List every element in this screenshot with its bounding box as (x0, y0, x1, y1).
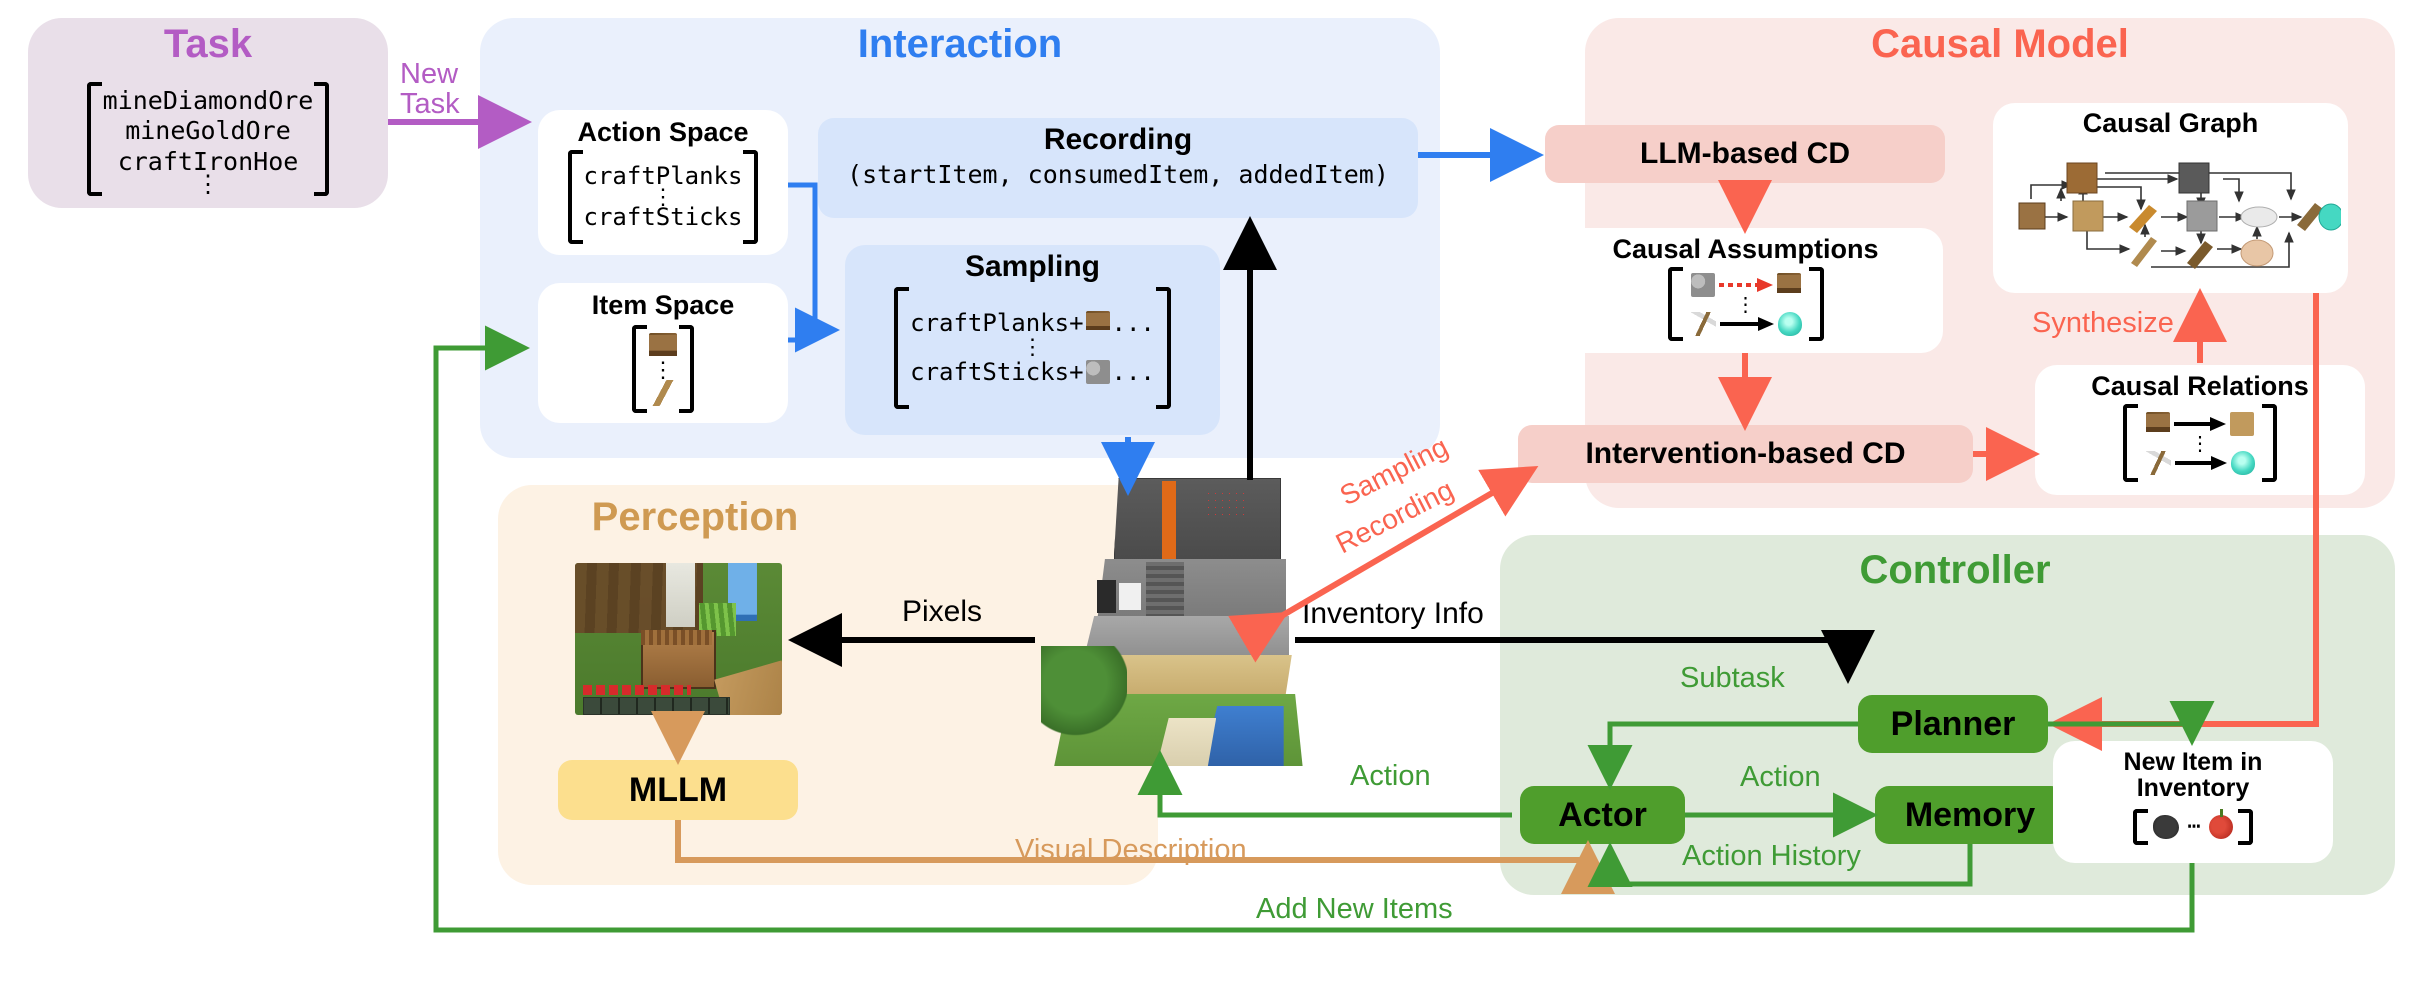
action-space-last: craftSticks (584, 204, 743, 232)
graph-node-crafting-table (2067, 163, 2097, 193)
graph-node-log (2019, 203, 2045, 229)
assumptions-ellipsis: ⋮ (1736, 298, 1756, 310)
cobblestone-item-icon (1691, 273, 1715, 297)
bracket-right (2265, 402, 2281, 484)
planner-label: Planner (1891, 705, 2016, 744)
action-space-title: Action Space (577, 118, 748, 146)
task-matrix: mineDiamondOre mineGoldOre craftIronHoe … (48, 80, 368, 200)
graph-node-cobblestone (2187, 201, 2217, 231)
pickaxe-item-icon (1690, 312, 1716, 336)
bracket-left (1664, 265, 1680, 343)
new-task-label-line2: Task (400, 88, 460, 121)
graph-node-stick (2131, 237, 2157, 267)
memory-box[interactable]: Memory (1875, 786, 2065, 844)
recording-tuple: (startItem, consumedItem, addedItem) (818, 160, 1418, 189)
llm-based-cd-box[interactable]: LLM-based CD (1545, 125, 1945, 183)
diamond-item-icon (2231, 451, 2255, 475)
plank-item-icon (1086, 311, 1110, 335)
causal-relations-card: Causal Relations ⋮ (2035, 365, 2365, 495)
bracket-right (1159, 285, 1175, 411)
synthesize-label: Synthesize (2032, 307, 2174, 340)
action-label-2: Action (1740, 761, 1821, 794)
causal-assumptions-card: Causal Assumptions ⋮ (1548, 228, 1943, 353)
sampling-last-tail: ... (1112, 358, 1155, 386)
memory-label: Memory (1905, 796, 2035, 835)
new-item-in-inventory-card: New Item in Inventory ⋯ (2053, 741, 2333, 863)
bracket-left (890, 285, 906, 411)
action-space-card: Action Space craftPlanks ⋮ craftSticks (538, 110, 788, 255)
pickaxe-item-icon (2145, 451, 2171, 475)
inventory-info-label: Inventory Info (1302, 597, 1484, 631)
action-space-ellipsis: ⋮ (652, 191, 674, 205)
causal-relations-title: Causal Relations (2091, 372, 2309, 400)
action-label: Action (1350, 760, 1431, 793)
bracket-left (2119, 402, 2135, 484)
bracket-left (564, 148, 580, 246)
graph-node-iron-ingot (2241, 207, 2277, 227)
sampling-title: Sampling (965, 251, 1100, 283)
intervention-based-cd-box[interactable]: Intervention-based CD (1518, 425, 1973, 483)
actor-box[interactable]: Actor (1520, 786, 1685, 844)
task-ellipsis: ⋮ (196, 177, 220, 192)
plank-item-icon (1777, 273, 1801, 297)
bracket-right (682, 323, 698, 415)
new-item-title-line1: New Item in (2124, 749, 2263, 775)
sampling-first: craftPlanks+ (910, 309, 1083, 337)
pixels-label: Pixels (902, 595, 982, 629)
graph-node-furnace (2179, 163, 2209, 193)
dashed-red-arrow-icon (1719, 277, 1773, 293)
stick-item-icon (648, 380, 678, 406)
intervention-based-cd-label: Intervention-based CD (1585, 437, 1905, 471)
graph-node-stone-pickaxe (2187, 241, 2213, 269)
recording-card: Recording (startItem, consumedItem, adde… (818, 118, 1418, 218)
bracket-left (2129, 807, 2145, 847)
assumption-row-2 (1690, 312, 1802, 336)
action-history-label: Action History (1682, 840, 1861, 873)
solid-black-arrow-icon (2175, 455, 2227, 471)
relation-row-2 (2145, 451, 2255, 475)
llm-based-cd-label: LLM-based CD (1640, 137, 1850, 171)
bracket-right (1812, 265, 1828, 343)
task-item-1: mineGoldOre (125, 116, 291, 147)
task-title: Task (28, 22, 388, 67)
sampling-card: Sampling craftPlanks+ ... ⋮ craftSticks+… (845, 245, 1220, 435)
mllm-label: MLLM (629, 771, 727, 810)
bracket-right (746, 148, 762, 246)
causal-graph-card: Causal Graph (1993, 103, 2348, 293)
actor-label: Actor (1558, 796, 1647, 835)
causal-graph-title: Causal Graph (2083, 109, 2259, 137)
controller-title: Controller (1805, 548, 2105, 593)
recording-title: Recording (818, 124, 1418, 156)
interaction-title: Interaction (800, 22, 1120, 67)
bracket-right (2241, 807, 2257, 847)
graph-node-wooden-pickaxe (2129, 205, 2157, 233)
causal-graph-figure (2001, 139, 2341, 279)
add-new-items-label: Add New Items (1256, 893, 1453, 926)
item-space-card: Item Space ⋮ (538, 283, 788, 423)
sampling-first-tail: ... (1112, 309, 1155, 337)
solid-black-arrow-icon (2174, 416, 2226, 432)
causal-model-title: Causal Model (1800, 22, 2200, 67)
item-space-ellipsis: ⋮ (652, 364, 674, 378)
cobblestone-item-icon (1086, 360, 1110, 384)
sampling-last: craftSticks+ (910, 358, 1083, 386)
new-item-ellipsis: ⋯ (2187, 814, 2200, 839)
graph-node-planks (2073, 201, 2103, 231)
graph-node-raw-iron (2241, 240, 2273, 266)
new-task-label-line1: New (400, 58, 458, 91)
diamond-item-icon (1778, 312, 1802, 336)
bracket-right (317, 80, 333, 198)
relations-ellipsis: ⋮ (2190, 437, 2210, 449)
causal-assumptions-title: Causal Assumptions (1612, 235, 1878, 263)
task-item-0: mineDiamondOre (103, 86, 314, 117)
minecraft-first-person-view (575, 563, 782, 715)
planner-box[interactable]: Planner (1858, 695, 2048, 753)
mllm-box[interactable]: MLLM (558, 760, 798, 820)
bracket-left (628, 323, 644, 415)
solid-black-arrow-icon (1720, 316, 1774, 332)
log-item-icon (649, 333, 677, 361)
sampling-ellipsis: ⋮ (1022, 341, 1044, 355)
item-space-title: Item Space (592, 291, 735, 319)
minecraft-world-diorama (1038, 478, 1308, 778)
plank-item-icon (2230, 412, 2254, 436)
subtask-label: Subtask (1680, 662, 1785, 695)
apple-item-icon (2209, 815, 2233, 839)
new-item-title-line2: Inventory (2137, 775, 2250, 801)
log-item-icon (2146, 412, 2170, 436)
coal-item-icon (2153, 815, 2179, 839)
graph-node-diamond (2319, 204, 2341, 230)
visual-description-label: Visual Description (1015, 834, 1247, 867)
bracket-left (83, 80, 99, 198)
perception-title: Perception (530, 495, 860, 540)
